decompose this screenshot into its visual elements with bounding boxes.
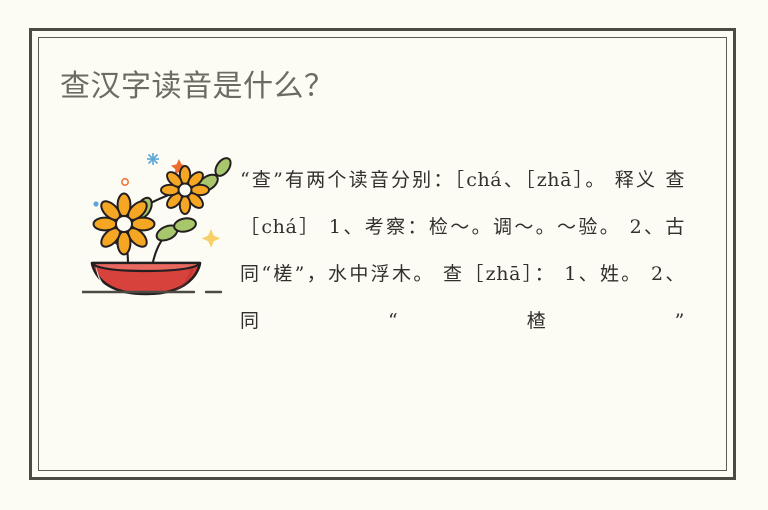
flower-large <box>94 194 155 255</box>
page-title: 查汉字读音是什么？ <box>60 67 335 107</box>
leaf <box>173 217 197 234</box>
dot-sparkle-icon <box>93 201 98 206</box>
page-root: 查汉字读音是什么？ <box>0 0 768 510</box>
content-area: “查”有两个读音分别：［chá、［zhā］。 释义 查［chá］ 1、考察：检～… <box>32 131 733 477</box>
decorative-outer-frame: 查汉字读音是什么？ <box>29 28 736 480</box>
diamond-sparkle-icon <box>202 229 221 248</box>
snowflake-sparkle-icon <box>147 153 159 165</box>
answer-text: “查”有两个读音分别：［chá、［zhā］。 释义 查［chá］ 1、考察：检～… <box>240 157 685 392</box>
ring-sparkle-icon <box>122 179 128 185</box>
flower-bowl-illustration <box>82 145 242 305</box>
bowl <box>92 263 200 294</box>
flower-small <box>161 166 209 214</box>
